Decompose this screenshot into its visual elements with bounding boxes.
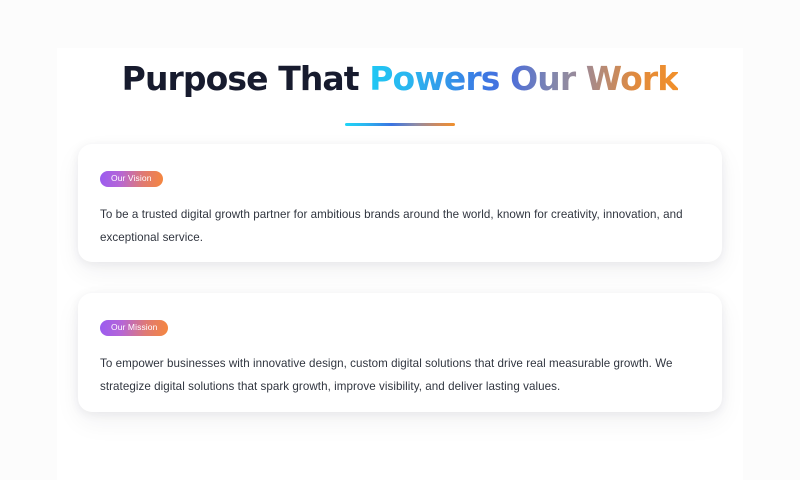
page-title: Purpose That Powers Our Work [57,61,743,98]
page-root: Purpose That Powers Our Work Our Vision … [0,0,800,480]
vision-card-inner: Our Vision To be a trusted digital growt… [78,144,722,249]
vision-badge: Our Vision [100,171,163,187]
page-title-plain-text: Purpose That [122,59,370,98]
mission-badge: Our Mission [100,320,168,336]
page-heading-section: Purpose That Powers Our Work [57,61,743,98]
vision-card: Our Vision To be a trusted digital growt… [78,144,722,262]
mission-card-inner: Our Mission To empower businesses with i… [78,293,722,398]
mission-card-text: To empower businesses with innovative de… [100,352,700,398]
heading-underline-accent [345,123,455,126]
mission-card: Our Mission To empower businesses with i… [78,293,722,412]
content-panel: Purpose That Powers Our Work Our Vision … [57,48,743,480]
page-title-gradient-text: Powers Our Work [369,59,678,98]
vision-card-text: To be a trusted digital growth partner f… [100,203,685,249]
